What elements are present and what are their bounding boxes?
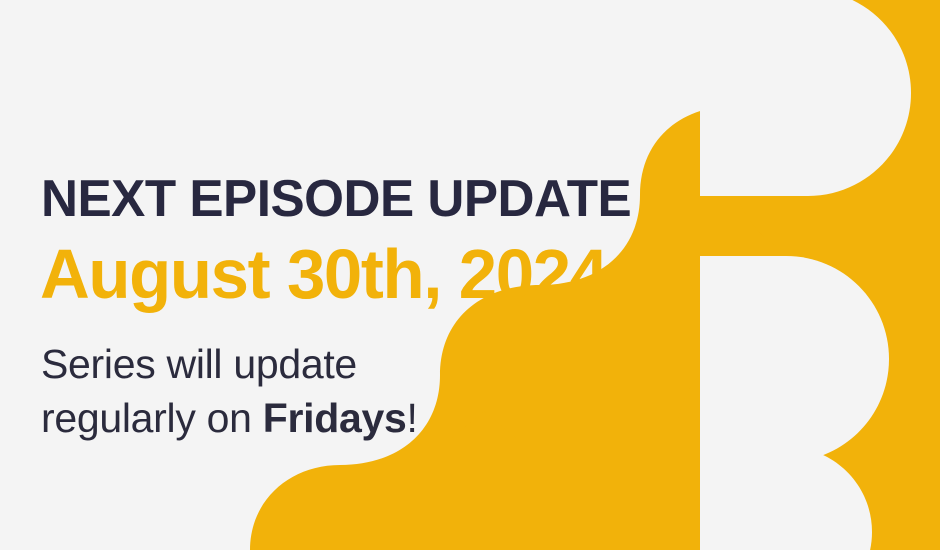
schedule-note-suffix: ! — [406, 395, 417, 441]
bookmark-icon — [452, 339, 516, 438]
schedule-note-line-2: regularly on Fridays! — [41, 391, 418, 445]
schedule-note-line-1: Series will update — [41, 337, 418, 391]
schedule-note: Series will update regularly on Fridays! — [41, 337, 418, 445]
page-title: NEXT EPISODE UPDATE — [41, 173, 631, 225]
wave-lobes — [700, 0, 940, 550]
banner-content: NEXT EPISODE UPDATE August 30th, 2024 Se… — [0, 0, 720, 550]
next-episode-update-banner: NEXT EPISODE UPDATE August 30th, 2024 Se… — [0, 0, 940, 550]
schedule-note-prefix: regularly on — [41, 395, 263, 441]
episode-date: August 30th, 2024 — [40, 239, 607, 309]
schedule-note-emphasis: Fridays — [263, 395, 407, 441]
